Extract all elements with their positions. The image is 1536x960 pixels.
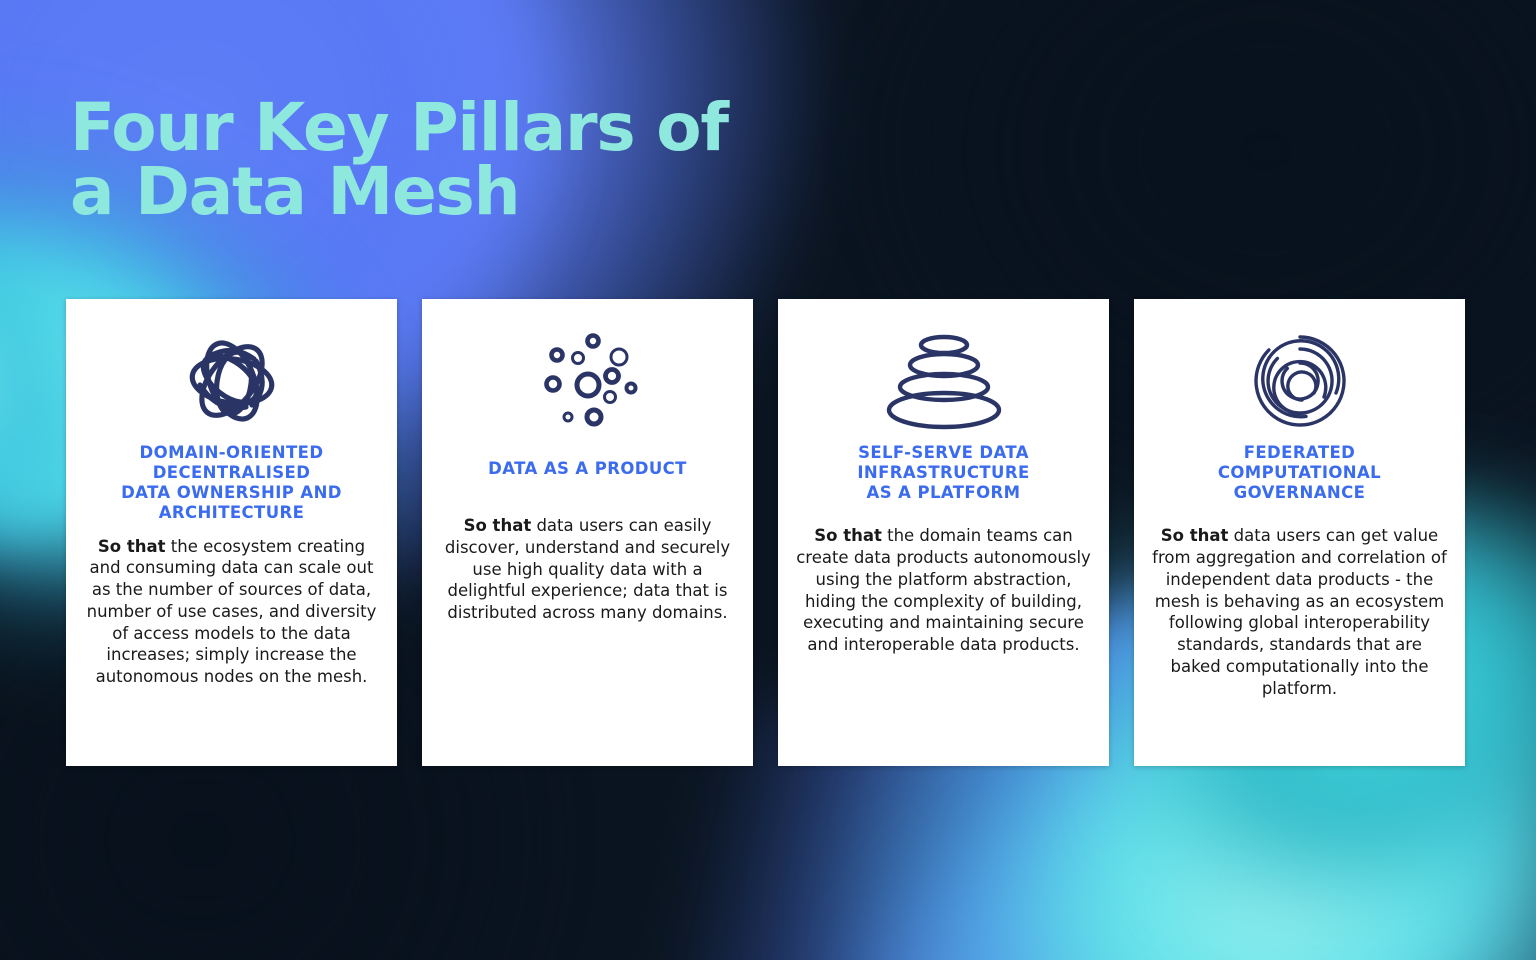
circle-cluster-icon [536,321,640,441]
pillar-card: DATA AS A PRODUCT So that data users can… [422,299,753,766]
pillar-card-heading: SELF-SERVE DATA INFRASTRUCTURE AS A PLAT… [857,443,1029,503]
pillar-card-body-rest: the ecosystem creating and consuming dat… [87,537,377,687]
stacked-rings-icon [880,321,1008,441]
pillar-card-heading: DATA AS A PRODUCT [488,459,687,479]
pillar-card-body-lead: So that [814,526,882,545]
pillar-card-list: DOMAIN-ORIENTED DECENTRALISED DATA OWNER… [66,299,1470,766]
pillar-card-body-rest: data users can get value from aggregatio… [1152,526,1447,697]
pillar-card-body-rest: the domain teams can create data product… [796,526,1091,654]
pillar-card: FEDERATED COMPUTATIONAL GOVERNANCE So th… [1134,299,1465,766]
pillar-card-body-lead: So that [98,537,166,556]
atom-orbit-icon [178,321,286,441]
page-title-line-2: a Data Mesh [70,160,970,224]
pillar-card-body: So that the ecosystem creating and consu… [80,536,383,688]
pillar-card-heading: DOMAIN-ORIENTED DECENTRALISED DATA OWNER… [121,443,342,524]
pillar-card: SELF-SERVE DATA INFRASTRUCTURE AS A PLAT… [778,299,1109,766]
pillar-card-body: So that the domain teams can create data… [792,525,1095,656]
pillar-card-heading: FEDERATED COMPUTATIONAL GOVERNANCE [1218,443,1381,503]
pillar-card-body-lead: So that [464,516,532,535]
pillar-card-body: So that data users can easily discover, … [436,515,739,624]
concentric-spiral-icon [1250,321,1350,441]
page-title: Four Key Pillars of a Data Mesh [70,96,970,224]
pillar-card-body: So that data users can get value from ag… [1148,525,1451,699]
pillar-card-body-lead: So that [1161,526,1229,545]
pillar-card: DOMAIN-ORIENTED DECENTRALISED DATA OWNER… [66,299,397,766]
infographic-page: Four Key Pillars of a Data Mesh DOMAIN-O… [0,0,1536,960]
page-title-line-1: Four Key Pillars of [70,96,970,160]
